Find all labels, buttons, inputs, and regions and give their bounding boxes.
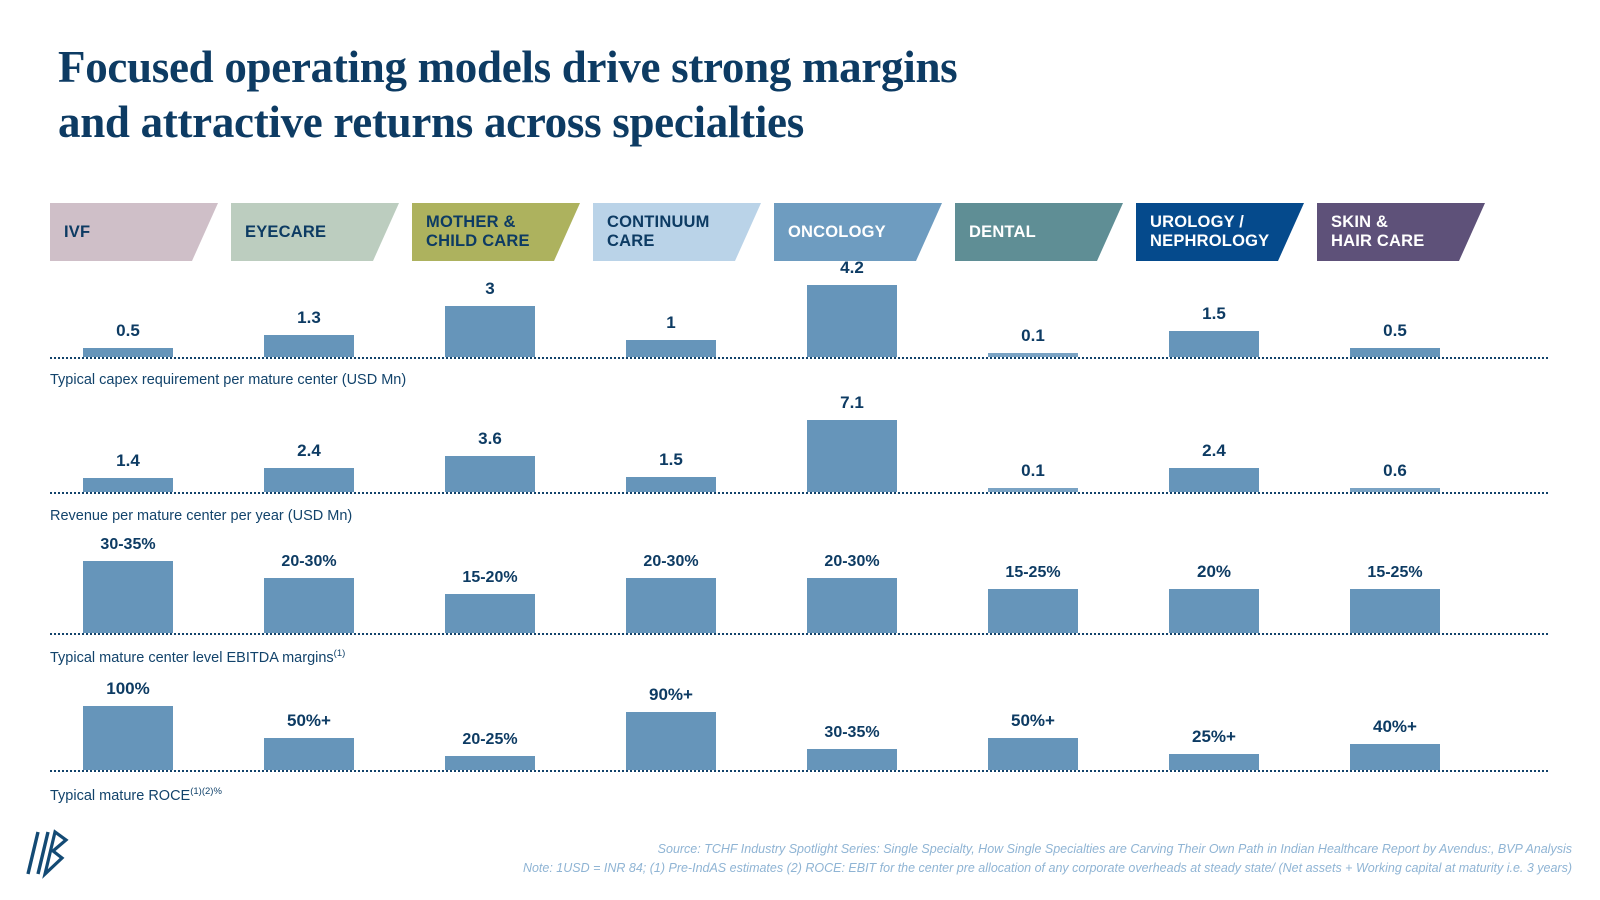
specialty-header-dental[interactable]: DENTAL — [955, 203, 1123, 261]
specialty-header-skin-hair-care[interactable]: SKIN &HAIR CARE — [1317, 203, 1485, 261]
bar-value-label: 1.5 — [1169, 304, 1259, 324]
bar — [445, 306, 535, 357]
chart-row-1: 0.51.3314.20.11.50.5 — [50, 272, 1548, 357]
specialty-header-eyecare[interactable]: EYECARE — [231, 203, 399, 261]
bar-group: 30-35% — [807, 690, 897, 770]
bar-value-label: 20-30% — [626, 553, 716, 571]
bar-value-label: 30-35% — [83, 536, 173, 554]
bar-value-label: 3.6 — [445, 429, 535, 449]
chart-row-4: 100%50%+20-25%90%+30-35%50%+25%+40%+ — [50, 690, 1548, 770]
bar-group: 3.6 — [445, 410, 535, 492]
bar-group: 20-30% — [264, 546, 354, 633]
bar-group: 20-30% — [626, 546, 716, 633]
bar — [626, 340, 716, 357]
company-logo-icon — [22, 824, 78, 882]
bar-value-label: 90%+ — [626, 685, 716, 705]
bar-group: 90%+ — [626, 690, 716, 770]
bar — [807, 578, 897, 633]
specialty-header-label: IVF — [64, 223, 90, 242]
row-baseline — [50, 492, 1548, 494]
bar-value-label: 0.5 — [1350, 321, 1440, 341]
specialty-header-label: MOTHER &CHILD CARE — [426, 213, 530, 251]
slide: Focused operating models drive strong ma… — [0, 0, 1600, 900]
bar — [264, 578, 354, 633]
bar — [83, 478, 173, 492]
specialty-header-label: CONTINUUMCARE — [607, 213, 710, 251]
bar-group: 50%+ — [264, 690, 354, 770]
bar — [807, 285, 897, 357]
bar — [445, 756, 535, 770]
bar — [807, 420, 897, 492]
bar — [988, 589, 1078, 633]
bar-value-label: 1.4 — [83, 451, 173, 471]
bar-value-label: 1.3 — [264, 308, 354, 328]
bar-value-label: 15-20% — [445, 569, 535, 587]
row-label: Typical mature center level EBITDA margi… — [50, 648, 345, 666]
bar — [445, 594, 535, 633]
bar — [264, 335, 354, 357]
chart-row-3: 30-35%20-30%15-20%20-30%20-30%15-25%20%1… — [50, 546, 1548, 633]
specialty-header-label: UROLOGY /NEPHROLOGY — [1150, 213, 1269, 251]
bar-group: 0.5 — [83, 272, 173, 357]
bar-group: 1.3 — [264, 272, 354, 357]
row-label: Revenue per mature center per year (USD … — [50, 508, 352, 524]
bar-group: 1 — [626, 272, 716, 357]
specialty-header-oncology[interactable]: ONCOLOGY — [774, 203, 942, 261]
bar-group: 15-25% — [988, 546, 1078, 633]
row-baseline — [50, 633, 1548, 635]
bar-value-label: 50%+ — [264, 711, 354, 731]
bar-value-label: 40%+ — [1350, 717, 1440, 737]
note-line: Note: 1USD = INR 84; (1) Pre-IndAS estim… — [432, 859, 1572, 878]
bar — [1169, 331, 1259, 357]
bar — [1350, 589, 1440, 633]
bar — [988, 738, 1078, 770]
bar-value-label: 1 — [626, 313, 716, 333]
bar-group: 15-25% — [1350, 546, 1440, 633]
specialty-header-label: SKIN &HAIR CARE — [1331, 213, 1424, 251]
page-title: Focused operating models drive strong ma… — [58, 40, 1358, 150]
bar-value-label: 1.5 — [626, 450, 716, 470]
bar-value-label: 50%+ — [988, 711, 1078, 731]
bar — [1169, 589, 1259, 633]
bar — [83, 706, 173, 770]
bar-group: 0.6 — [1350, 410, 1440, 492]
footer-notes: Source: TCHF Industry Spotlight Series: … — [432, 840, 1572, 878]
bar-value-label: 30-35% — [807, 724, 897, 742]
bar-group: 1.5 — [626, 410, 716, 492]
row-baseline — [50, 357, 1548, 359]
bar — [1169, 754, 1259, 770]
bar-group: 2.4 — [264, 410, 354, 492]
bar-value-label: 15-25% — [988, 564, 1078, 582]
bar — [1350, 744, 1440, 770]
title-line-2: and attractive returns across specialtie… — [58, 95, 1358, 150]
bar-group: 40%+ — [1350, 690, 1440, 770]
bar — [83, 348, 173, 357]
title-line-1: Focused operating models drive strong ma… — [58, 40, 1358, 95]
bar — [626, 477, 716, 492]
bar — [1350, 348, 1440, 357]
bar-value-label: 20-30% — [807, 553, 897, 571]
specialty-header-urology-nephrology[interactable]: UROLOGY /NEPHROLOGY — [1136, 203, 1304, 261]
specialty-header-continuum-care[interactable]: CONTINUUMCARE — [593, 203, 761, 261]
specialty-header-mother-child-care[interactable]: MOTHER &CHILD CARE — [412, 203, 580, 261]
bar-group: 3 — [445, 272, 535, 357]
bar-group: 20% — [1169, 546, 1259, 633]
specialty-header-row: IVFEYECAREMOTHER &CHILD CARECONTINUUMCAR… — [50, 203, 1548, 261]
bar-group: 20-30% — [807, 546, 897, 633]
bar — [83, 561, 173, 633]
bar-group: 1.4 — [83, 410, 173, 492]
bar-value-label: 4.2 — [807, 258, 897, 278]
bar-value-label: 2.4 — [264, 441, 354, 461]
bar — [626, 578, 716, 633]
bar-group: 50%+ — [988, 690, 1078, 770]
bar-group: 100% — [83, 690, 173, 770]
bar-group: 15-20% — [445, 546, 535, 633]
bar-group: 7.1 — [807, 410, 897, 492]
specialty-header-label: ONCOLOGY — [788, 223, 886, 242]
bar-group: 25%+ — [1169, 690, 1259, 770]
bar-value-label: 20-25% — [445, 731, 535, 749]
bar-value-label: 100% — [83, 679, 173, 699]
row-baseline — [50, 770, 1548, 772]
specialty-header-label: DENTAL — [969, 223, 1036, 242]
bar-value-label: 0.1 — [988, 461, 1078, 481]
bar-value-label: 7.1 — [807, 393, 897, 413]
bar — [1169, 468, 1259, 492]
bar-group: 0.5 — [1350, 272, 1440, 357]
bar-group: 0.1 — [988, 410, 1078, 492]
bar-group: 4.2 — [807, 272, 897, 357]
row-label: Typical capex requirement per mature cen… — [50, 372, 406, 388]
specialty-header-ivf[interactable]: IVF — [50, 203, 218, 261]
row-label: Typical mature ROCE(1)(2)% — [50, 786, 222, 804]
bar-value-label: 20% — [1169, 562, 1259, 582]
specialty-header-label: EYECARE — [245, 223, 326, 242]
bar-group: 1.5 — [1169, 272, 1259, 357]
chart-row-2: 1.42.43.61.57.10.12.40.6 — [50, 410, 1548, 492]
bar — [626, 712, 716, 770]
bar — [807, 749, 897, 770]
bar — [445, 456, 535, 493]
bar-value-label: 25%+ — [1169, 727, 1259, 747]
row-label-footnote: (1)(2)% — [190, 786, 222, 797]
bar-group: 0.1 — [988, 272, 1078, 357]
bar-value-label: 0.1 — [988, 326, 1078, 346]
bar — [264, 468, 354, 492]
bar-value-label: 15-25% — [1350, 564, 1440, 582]
bar-group: 2.4 — [1169, 410, 1259, 492]
bar-value-label: 3 — [445, 279, 535, 299]
source-line: Source: TCHF Industry Spotlight Series: … — [432, 840, 1572, 859]
bar-value-label: 20-30% — [264, 553, 354, 571]
bar-value-label: 0.5 — [83, 321, 173, 341]
row-label-footnote: (1) — [334, 648, 346, 659]
bar-group: 30-35% — [83, 546, 173, 633]
bar-value-label: 0.6 — [1350, 461, 1440, 481]
bar-value-label: 2.4 — [1169, 441, 1259, 461]
bar — [264, 738, 354, 770]
bar-group: 20-25% — [445, 690, 535, 770]
